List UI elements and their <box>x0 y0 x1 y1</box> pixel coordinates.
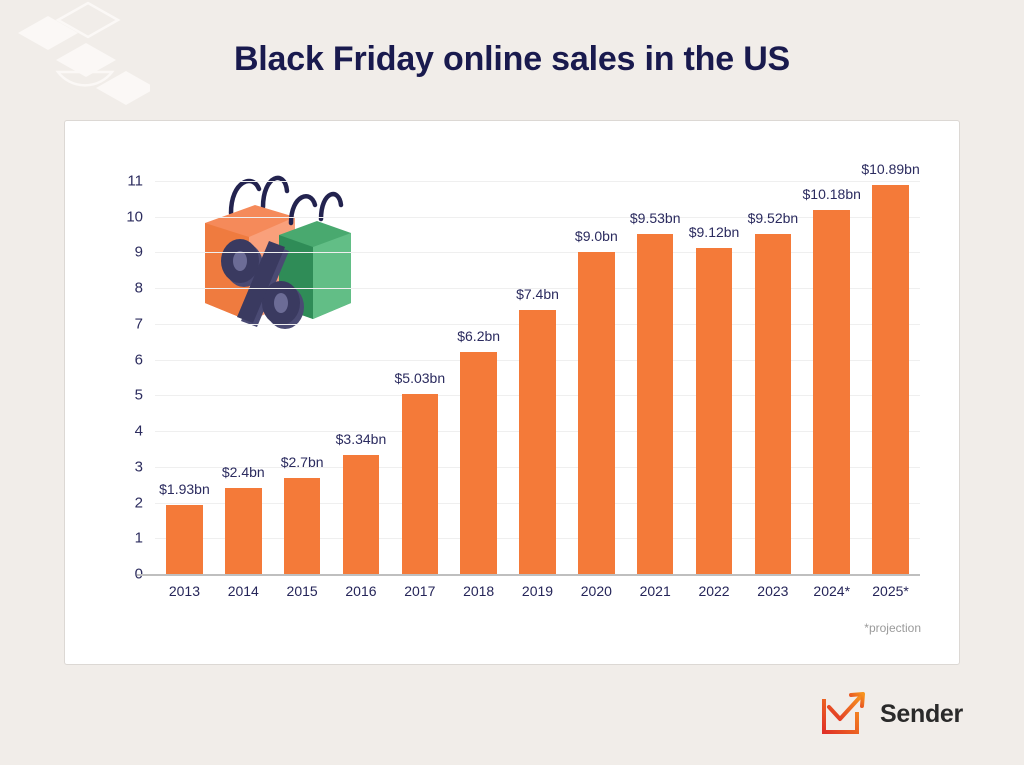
bar-value-label: $3.34bn <box>336 431 387 447</box>
bar-value-label: $9.52bn <box>748 210 799 226</box>
x-axis-tick-label: 2023 <box>743 583 802 599</box>
bar-value-label: $9.12bn <box>689 224 740 240</box>
shopping-bags-percent-icon <box>187 161 367 341</box>
x-axis-tick-label: 2022 <box>685 583 744 599</box>
bar[interactable] <box>755 234 791 574</box>
bar-value-label: $10.89bn <box>861 161 919 177</box>
bar-fill <box>343 455 379 574</box>
bar-fill <box>284 478 320 574</box>
bar-fill <box>225 488 261 574</box>
bar-value-label: $5.03bn <box>394 370 445 386</box>
x-axis-tick-label: 2024* <box>802 583 861 599</box>
bar-fill <box>755 234 791 574</box>
bar[interactable] <box>813 210 849 574</box>
page-title: Black Friday online sales in the US <box>0 40 1024 79</box>
bar-fill <box>519 310 555 574</box>
y-axis-tick-label: 11 <box>103 173 143 190</box>
y-axis-tick-label: 3 <box>103 458 143 475</box>
bar[interactable] <box>460 352 496 574</box>
y-axis-tick-label: 6 <box>103 351 143 368</box>
x-axis-tick-label: 2025* <box>861 583 920 599</box>
bar-value-label: $2.4bn <box>222 464 265 480</box>
bar-fill <box>460 352 496 574</box>
y-axis-tick-label: 9 <box>103 244 143 261</box>
x-axis-tick-label: 2021 <box>626 583 685 599</box>
sender-logo[interactable]: Sender <box>820 692 963 736</box>
y-axis-tick-label: 7 <box>103 315 143 332</box>
bar-value-label: $6.2bn <box>457 328 500 344</box>
gridline <box>155 181 920 182</box>
x-axis-tick-label: 2020 <box>567 583 626 599</box>
y-axis-tick-label: 5 <box>103 387 143 404</box>
y-axis-tick-label: 4 <box>103 423 143 440</box>
bar-fill <box>696 248 732 574</box>
gridline <box>155 252 920 253</box>
bar[interactable] <box>578 252 614 574</box>
x-axis-tick-label: 2017 <box>390 583 449 599</box>
bar[interactable] <box>166 505 202 574</box>
brand-name: Sender <box>880 700 963 729</box>
bar-value-label: $9.0bn <box>575 228 618 244</box>
bar-fill <box>872 185 908 574</box>
bar[interactable] <box>225 488 261 574</box>
infographic-page: Black Friday online sales in the US <box>0 0 1024 765</box>
bar[interactable] <box>343 455 379 574</box>
bar-fill <box>166 505 202 574</box>
bar-fill <box>637 234 673 574</box>
bar[interactable] <box>402 394 438 574</box>
bar-fill <box>578 252 614 574</box>
x-axis-tick-label: 2013 <box>155 583 214 599</box>
bar-value-label: $9.53bn <box>630 210 681 226</box>
x-axis-tick-label: 2014 <box>214 583 273 599</box>
y-axis-tick-label: 2 <box>103 494 143 511</box>
bar[interactable] <box>519 310 555 574</box>
bar-fill <box>402 394 438 574</box>
bar-value-label: $2.7bn <box>281 454 324 470</box>
x-axis-tick-label: 2018 <box>449 583 508 599</box>
bar[interactable] <box>872 185 908 574</box>
bar[interactable] <box>637 234 673 574</box>
bar-chart-plot: *projection 01234567891011$1.93bn2013$2.… <box>65 121 961 666</box>
bar-fill <box>813 210 849 574</box>
bar-value-label: $10.18bn <box>803 186 861 202</box>
gridline <box>155 217 920 218</box>
bar-value-label: $7.4bn <box>516 286 559 302</box>
sender-envelope-arrow-icon <box>820 692 868 736</box>
y-axis-tick-label: 10 <box>103 208 143 225</box>
x-axis-tick-label: 2019 <box>508 583 567 599</box>
bar-value-label: $1.93bn <box>159 481 210 497</box>
bar[interactable] <box>284 478 320 574</box>
x-axis-baseline <box>137 574 920 576</box>
x-axis-tick-label: 2015 <box>273 583 332 599</box>
projection-footnote: *projection <box>864 621 921 635</box>
bar[interactable] <box>696 248 732 574</box>
y-axis-tick-label: 8 <box>103 280 143 297</box>
x-axis-tick-label: 2016 <box>332 583 391 599</box>
y-axis-tick-label: 1 <box>103 530 143 547</box>
chart-card: *projection 01234567891011$1.93bn2013$2.… <box>64 120 960 665</box>
